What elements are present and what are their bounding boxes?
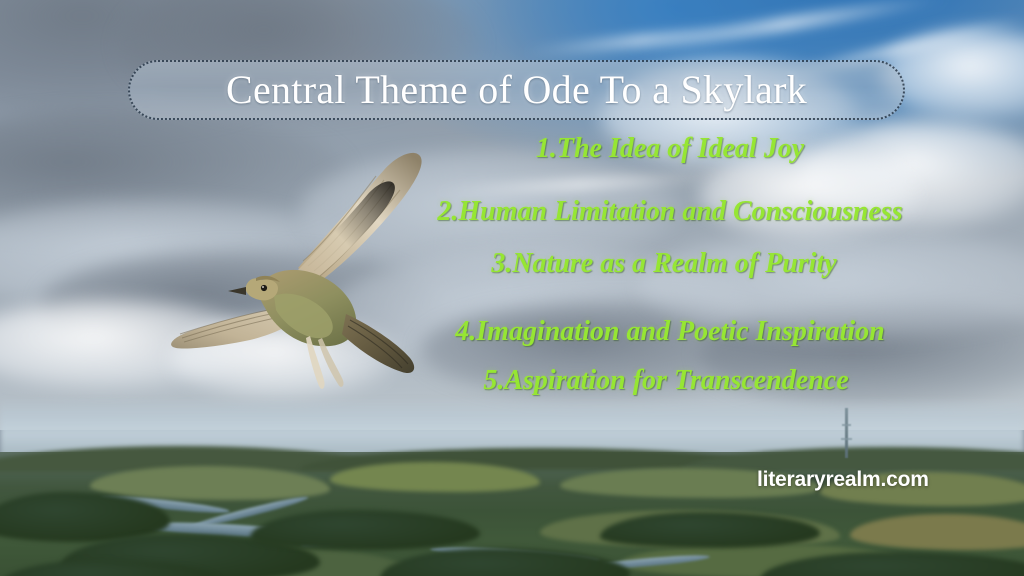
page-title: Central Theme of Ode To a Skylark: [226, 70, 807, 110]
title-banner: Central Theme of Ode To a Skylark: [128, 60, 905, 120]
theme-list-item-5: 5.Aspiration for Transcendence: [483, 366, 848, 395]
field-6: [850, 514, 1024, 550]
theme-list-item-4: 4.Imagination and Poetic Inspiration: [455, 317, 884, 346]
theme-list-item-1: 1.The Idea of Ideal Joy: [536, 134, 804, 163]
slide-canvas: Central Theme of Ode To a Skylark 1.The …: [0, 0, 1024, 576]
radio-tower-icon: [845, 408, 848, 458]
theme-list: 1.The Idea of Ideal Joy 2.Human Limitati…: [380, 134, 960, 395]
theme-list-item-3: 3.Nature as a Realm of Purity: [491, 249, 836, 278]
theme-list-item-2: 2.Human Limitation and Consciousness: [437, 197, 902, 226]
cloud-streak-3: [520, 23, 760, 57]
forest-4: [380, 548, 630, 576]
site-watermark: literaryrealm.com: [757, 468, 929, 492]
forest-3: [250, 510, 480, 550]
